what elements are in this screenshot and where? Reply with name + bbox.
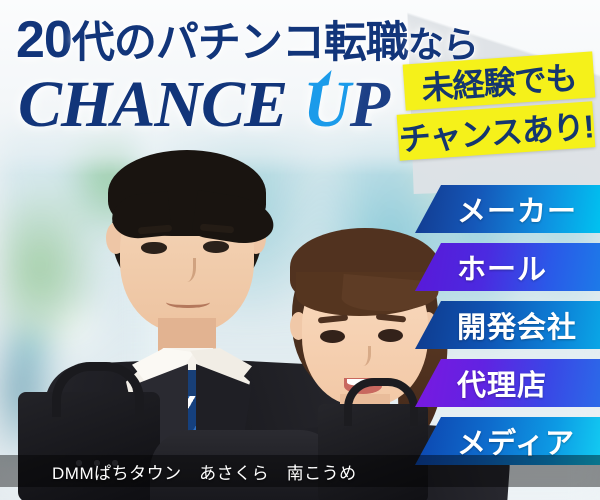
category-label-maker: メーカー bbox=[457, 188, 577, 230]
category-bar-list: メーカー ホール 開発会社 代理店 メディア bbox=[0, 0, 600, 500]
credit-bar: DMMぱちタウン あさくら 南こうめ bbox=[0, 455, 600, 487]
category-bar-development-company[interactable]: 開発会社 bbox=[415, 301, 600, 349]
category-label-hall: ホール bbox=[457, 246, 547, 288]
credit-text: DMMぱちタウン あさくら 南こうめ bbox=[52, 459, 357, 484]
category-bar-maker[interactable]: メーカー bbox=[415, 185, 600, 233]
category-bar-agency[interactable]: 代理店 bbox=[415, 359, 600, 407]
pachinko-job-ad-banner: 20代のパチンコ転職なら CHANCEUP 未経験でも チャンスあり! メーカー… bbox=[0, 0, 600, 500]
category-label-development-company: 開発会社 bbox=[457, 304, 577, 346]
category-bar-hall[interactable]: ホール bbox=[415, 243, 600, 291]
category-label-agency: 代理店 bbox=[457, 362, 547, 404]
